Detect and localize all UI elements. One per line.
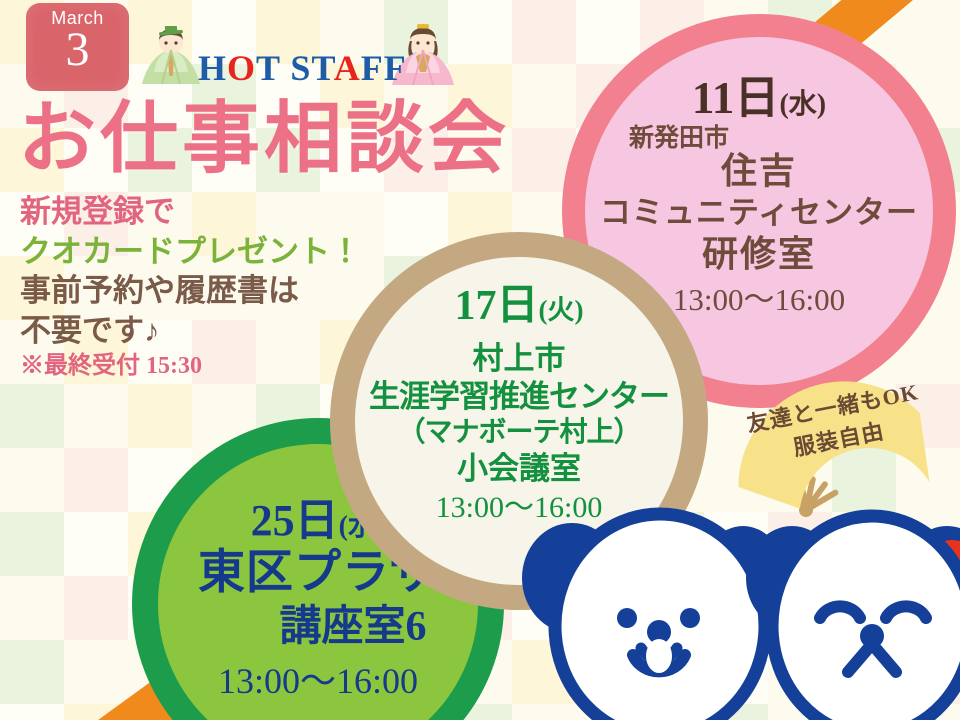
logo-letter-f2: F — [384, 48, 407, 88]
left-info-line-3: 事前予約や履歴書は — [20, 271, 361, 311]
logo-letter-h: H — [198, 48, 227, 88]
background-cell — [64, 640, 128, 704]
logo-letter-o: O — [227, 48, 256, 88]
background-cell — [0, 704, 64, 720]
background-cell — [576, 0, 640, 64]
background-cell — [64, 448, 128, 512]
session-pink-venue-3: 研修室 — [702, 234, 816, 274]
background-cell — [0, 384, 64, 448]
session-green-time: 13:00〜16:00 — [218, 661, 418, 701]
background-cell — [512, 64, 576, 128]
background-cell — [128, 384, 192, 448]
left-info-line-4: 不要です♪ — [20, 311, 361, 351]
left-info-line-2: クオカードプレゼント！ — [20, 232, 361, 272]
session-tan-venue-3: 小会議室 — [457, 452, 581, 487]
mascot-right-icon — [746, 516, 960, 720]
poster-canvas: 25日(水) 東区プラザ 講座室6 13:00〜16:00 11日(水) 新発田… — [0, 0, 960, 720]
mascot-left-icon — [522, 514, 785, 720]
logo-letter-t: T — [256, 48, 280, 88]
hot-staff-logo: HOT STAFF — [198, 47, 407, 89]
session-tan-day: 17日(火) — [455, 283, 584, 330]
logo-space — [280, 48, 290, 88]
background-cell — [64, 512, 128, 576]
mascot-pair-icon — [500, 496, 960, 720]
page-title: お仕事相談会 — [18, 100, 510, 178]
logo-letter-t2: T — [311, 48, 333, 88]
background-cell — [64, 384, 128, 448]
logo-letter-f1: F — [361, 48, 384, 88]
background-cell — [0, 512, 64, 576]
background-cell — [512, 0, 576, 64]
session-pink-day: 11日(水) — [692, 73, 826, 123]
session-green-venue-2: 講座室6 — [209, 604, 426, 651]
background-cell — [0, 576, 64, 640]
logo-letter-s: S — [290, 48, 311, 88]
hina-doll-male-icon — [138, 26, 204, 88]
left-info-line-1: 新規登録で — [20, 192, 361, 232]
session-tan-city: 村上市 — [473, 342, 566, 377]
background-cell — [64, 576, 128, 640]
session-pink-city: 新発田市 — [629, 125, 729, 153]
session-pink-venue-2: コミュニティセンター — [600, 196, 918, 231]
background-cell — [896, 0, 960, 64]
logo-letter-a: A — [334, 48, 361, 88]
left-info-note: ※最終受付 15:30 — [20, 351, 361, 382]
background-cell — [0, 640, 64, 704]
session-tan-venue-1: 生涯学習推進センター — [369, 380, 669, 415]
background-cell — [384, 192, 448, 256]
left-info-block: 新規登録で クオカードプレゼント！ 事前予約や履歴書は 不要です♪ ※最終受付 … — [20, 192, 361, 381]
session-pink-time: 13:00〜16:00 — [673, 283, 845, 318]
session-pink-venue-1: 住吉 — [721, 151, 797, 191]
march-date-badge: March 3 — [26, 3, 129, 91]
background-cell — [0, 448, 64, 512]
session-tan-venue-2: （マナボーテ村上） — [397, 417, 640, 448]
march-day-number: 3 — [26, 27, 129, 73]
